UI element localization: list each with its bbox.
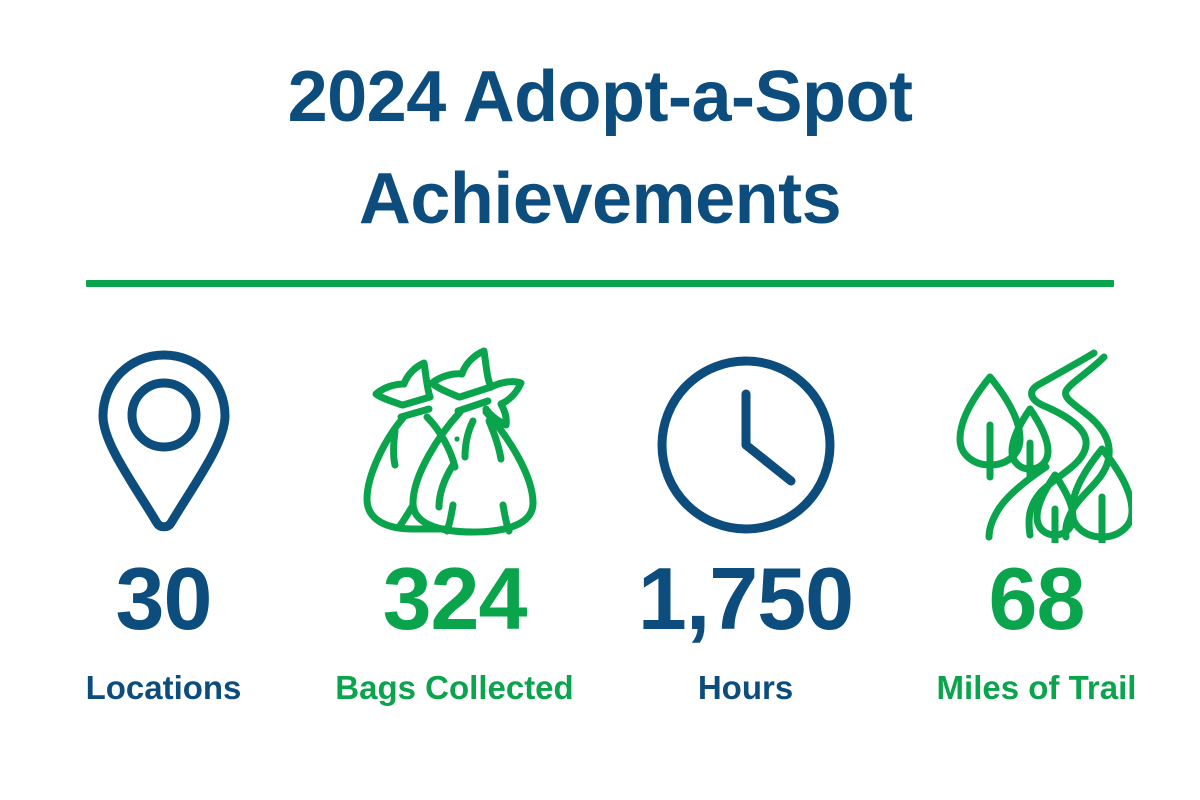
stat-label: Locations: [86, 671, 242, 704]
stat-label: Hours: [698, 671, 793, 704]
stat-locations: 30 Locations: [18, 345, 309, 704]
stat-bags-collected: 324 Bags Collected: [309, 345, 600, 704]
stat-label: Bags Collected: [335, 671, 573, 704]
trail-with-trees-icon: [942, 345, 1132, 545]
stats-row: 30 Locations: [0, 345, 1200, 745]
stat-miles-of-trail: 68 Miles of Trail: [891, 345, 1182, 704]
stat-label: Miles of Trail: [937, 671, 1137, 704]
stat-value: 1,750: [638, 555, 853, 643]
trash-bags-icon: [355, 345, 555, 545]
stat-value: 30: [116, 555, 212, 643]
clock-icon: [656, 345, 836, 545]
location-pin-icon: [89, 345, 239, 545]
page-title: 2024 Adopt-a-Spot Achievements: [0, 46, 1200, 250]
stat-value: 68: [989, 555, 1085, 643]
stat-hours: 1,750 Hours: [600, 345, 891, 704]
title-divider: [86, 280, 1114, 287]
infographic-poster: 2024 Adopt-a-Spot Achievements 30 Locati…: [0, 0, 1200, 800]
title-line-2: Achievements: [0, 148, 1200, 250]
stat-value: 324: [383, 555, 527, 643]
title-line-1: 2024 Adopt-a-Spot: [0, 46, 1200, 148]
